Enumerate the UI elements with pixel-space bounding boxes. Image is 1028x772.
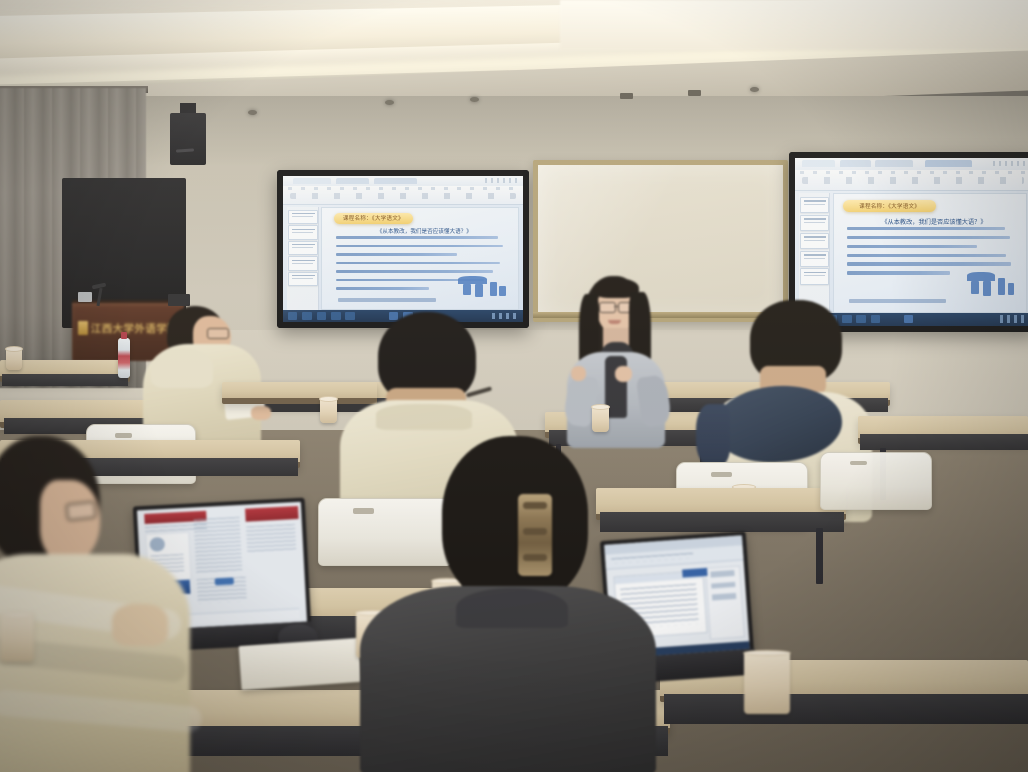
ceiling-downlight	[750, 87, 759, 92]
presenter-speaking	[553, 272, 677, 447]
glasses-icon	[599, 302, 616, 313]
collar	[376, 404, 472, 430]
paper-cup[interactable]	[744, 652, 790, 714]
university-seal-icon	[78, 321, 88, 335]
collar	[456, 588, 568, 628]
presenter-left-hand	[571, 366, 586, 381]
slide-canvas-right: 课程名称：《大学语文》 《从本教改，我们是否应该懂大语？》	[833, 193, 1028, 312]
slide-title-text: 课程名称：《大学语文》	[859, 202, 920, 210]
attendee-front-hairclip	[360, 436, 660, 772]
classroom-photo-scene: 江西大学外语学院	[0, 0, 1028, 772]
slide-thumbnail-panel[interactable]	[799, 193, 831, 312]
ceiling-downlight	[248, 110, 257, 115]
web-button[interactable]	[214, 577, 234, 585]
web-ad-banner	[245, 506, 298, 522]
slide-thumbnail-panel[interactable]	[287, 207, 319, 311]
glasses-icon	[65, 500, 97, 521]
podium-side-equipment	[168, 294, 190, 306]
presenter-right-hand	[615, 366, 632, 382]
paper-cup[interactable]	[592, 406, 609, 432]
notebook[interactable]	[239, 638, 362, 690]
ceiling-downlight	[385, 100, 394, 105]
powerpoint-window-left: 课程名称：《大学语文》 《从本教改，我们是否应该懂大语？》	[283, 176, 523, 322]
pen-icon	[466, 386, 492, 397]
slide-illustration-icon	[458, 270, 509, 301]
ceiling-downlight	[470, 97, 479, 102]
chair[interactable]	[820, 452, 932, 510]
attendee-hand	[112, 604, 168, 646]
slide-title-badge: 课程名称：《大学语文》	[843, 200, 936, 212]
desk-front-panel	[2, 374, 128, 386]
ribbon-toolbar[interactable]	[795, 170, 1028, 191]
podium-paper	[78, 292, 92, 302]
attendee-hand	[251, 406, 271, 420]
jacket-hood	[151, 348, 213, 388]
ceiling-highlight	[560, 0, 1028, 50]
glasses-icon	[207, 328, 229, 339]
paper-cup[interactable]	[0, 614, 34, 662]
left-display-screen: 课程名称：《大学语文》 《从本教改，我们是否应该懂大语？》	[283, 176, 523, 322]
left-wall-display[interactable]: 课程名称：《大学语文》 《从本教改，我们是否应该懂大语？》	[277, 170, 529, 328]
water-bottle[interactable]	[118, 338, 130, 378]
desk-leg	[816, 528, 823, 584]
ribbon-toolbar[interactable]	[283, 186, 523, 205]
slide-footer-text	[338, 298, 436, 302]
ceiling-light-fixture	[620, 93, 633, 99]
slide-title-text: 课程名称：《大学语文》	[343, 214, 404, 222]
ceiling-light-fixture	[688, 90, 701, 96]
slide-subtitle: 《从本教改，我们是否应该懂大语？》	[346, 227, 503, 235]
hood-drape	[696, 404, 730, 466]
slide-canvas-left: 课程名称：《大学语文》 《从本教改，我们是否应该懂大语？》	[321, 207, 519, 311]
slide-title-badge: 课程名称：《大学语文》	[334, 213, 412, 224]
wall-speaker-icon	[170, 113, 206, 165]
attendee-front-puffer	[0, 436, 182, 772]
slide-illustration-icon	[967, 266, 1017, 301]
paper-cup[interactable]	[6, 348, 22, 370]
slide-subtitle: 《从本教改，我们是否应该懂大语？》	[857, 217, 1011, 226]
